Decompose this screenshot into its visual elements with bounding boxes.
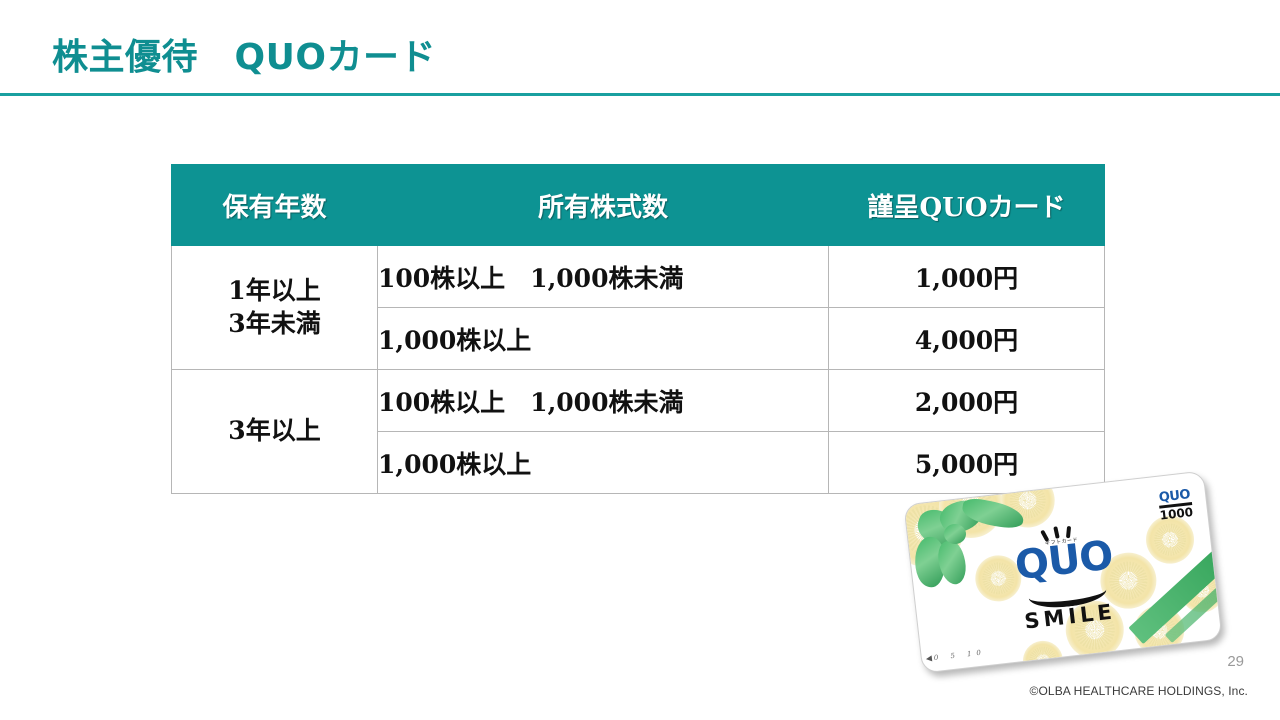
table-row: 3年以上 100株以上 1,000株未満 2,000円 (172, 370, 1105, 432)
punch-scale-text: 0 5 10 (933, 648, 986, 662)
page-title: 株主優待 QUOカード (52, 28, 436, 80)
sunflower-motif (1021, 639, 1065, 674)
badge-amount-text: 1000 (1159, 506, 1194, 522)
cell-holding-years-group-1: 1年以上 3年未満 (172, 246, 378, 370)
column-header-quo-card-gift: 謹呈QUOカード (829, 165, 1105, 246)
badge-brand-text: QUO (1157, 488, 1192, 505)
ribbon-knot (944, 524, 967, 545)
quo-card-face: ギフトカード QUO SMILE QUO 1000 0 5 10 (903, 470, 1222, 673)
column-header-holding-years: 保有年数 (172, 165, 378, 246)
cell-shares-g1-r2: 1,000株以上 (378, 308, 829, 370)
copyright-notice: ©OLBA HEALTHCARE HOLDINGS, Inc. (1030, 684, 1248, 698)
cell-shares-g2-r1: 100株以上 1,000株未満 (378, 370, 829, 432)
quo-logo: ギフトカード QUO SMILE (1000, 519, 1131, 635)
page-number: 29 (1227, 653, 1244, 670)
cell-gift-g1-r1: 1,000円 (829, 246, 1105, 308)
cell-gift-g1-r2: 4,000円 (829, 308, 1105, 370)
quo-denomination-badge: QUO 1000 (1157, 488, 1194, 522)
table-row: 1年以上 3年未満 100株以上 1,000株未満 1,000円 (172, 246, 1105, 308)
quo-card-illustration: ギフトカード QUO SMILE QUO 1000 0 5 10 (912, 487, 1222, 659)
cell-shares-g1-r1: 100株以上 1,000株未満 (378, 246, 829, 308)
cell-holding-years-group-2: 3年以上 (172, 370, 378, 494)
column-header-share-count: 所有株式数 (378, 165, 829, 246)
cell-gift-g2-r2: 5,000円 (829, 432, 1105, 494)
title-divider (0, 93, 1280, 96)
cell-shares-g2-r2: 1,000株以上 (378, 432, 829, 494)
cell-gift-g2-r1: 2,000円 (829, 370, 1105, 432)
punch-arrow-icon (926, 655, 933, 662)
shareholder-benefit-table: 保有年数 所有株式数 謹呈QUOカード 1年以上 3年未満 100株以上 1,0… (171, 164, 1105, 494)
table-header-row: 保有年数 所有株式数 謹呈QUOカード (172, 165, 1105, 246)
